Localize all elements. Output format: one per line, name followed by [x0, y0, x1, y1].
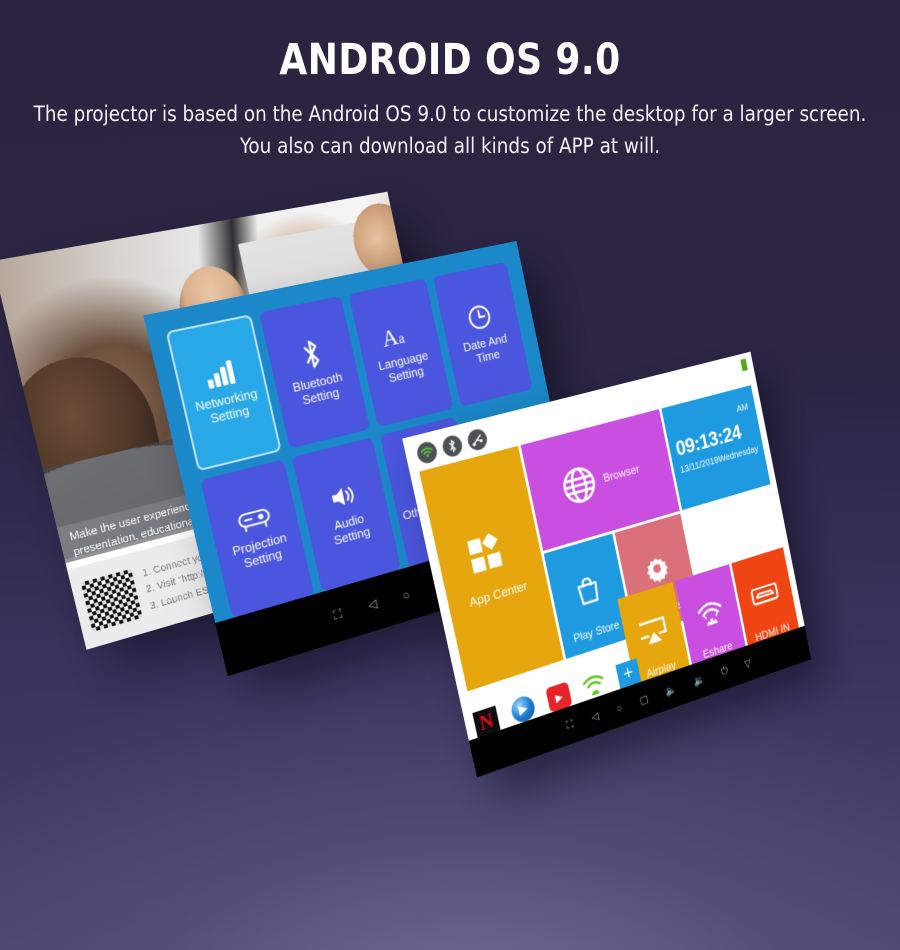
wifi-icon[interactable] [415, 440, 439, 465]
back-icon[interactable]: ◁ [367, 596, 379, 613]
apps-grid-icon [466, 529, 513, 580]
widget-clock[interactable]: 09:13:24 AM 13/11/2019 Wednesday [661, 385, 770, 510]
projector-icon [236, 506, 272, 535]
shopping-bag-icon [574, 572, 601, 606]
signal-bars-icon [204, 359, 238, 389]
globe-icon [560, 463, 599, 507]
screenshot-icon[interactable]: ⛶ [566, 718, 575, 732]
tile-label: Play Store [572, 619, 620, 645]
tile-label: Projection Setting [222, 529, 300, 577]
home-icon[interactable]: ○ [401, 587, 411, 603]
bluetooth-icon [298, 338, 324, 371]
volume-up-icon[interactable]: 🔉 [693, 673, 706, 688]
home-icon[interactable]: ○ [616, 702, 624, 715]
qr-code-icon [81, 569, 143, 632]
clock-icon [466, 302, 494, 332]
back-icon[interactable]: ◁ [590, 710, 600, 724]
tile-label: Browser [602, 463, 640, 484]
tile-label: App Center [468, 579, 528, 609]
recents-icon[interactable]: ▢ [639, 693, 650, 708]
menu-icon[interactable]: ▽ [743, 657, 752, 671]
device-showcase: EShare Make the user experience natural … [0, 0, 900, 950]
speaker-icon [327, 481, 359, 512]
tile-label: Bluetooth Setting [281, 368, 357, 412]
tile-label: Audio Setting [313, 507, 387, 553]
eshare-icon [694, 595, 726, 630]
font-size-icon: A a [380, 320, 416, 351]
hdmi-icon [750, 580, 781, 608]
usb-icon[interactable] [466, 427, 489, 452]
screenshot-icon[interactable]: ⛶ [332, 606, 343, 623]
volume-down-icon[interactable]: 🔈 [665, 683, 678, 698]
battery-icon [740, 358, 748, 371]
bluetooth-icon[interactable] [441, 434, 464, 459]
power-icon[interactable]: ⏻ [720, 665, 729, 679]
clock-widget-body: 09:13:24 AM 13/11/2019 Wednesday [661, 385, 770, 510]
svg-text:A: A [380, 324, 401, 350]
gear-icon [642, 551, 671, 586]
clock-meridiem: AM [736, 402, 749, 415]
tile-label: Language Setting [369, 347, 441, 390]
tile-label: Networking Setting [190, 386, 266, 431]
tile-label: Date And Time [452, 330, 520, 371]
airplay-icon [637, 614, 669, 648]
